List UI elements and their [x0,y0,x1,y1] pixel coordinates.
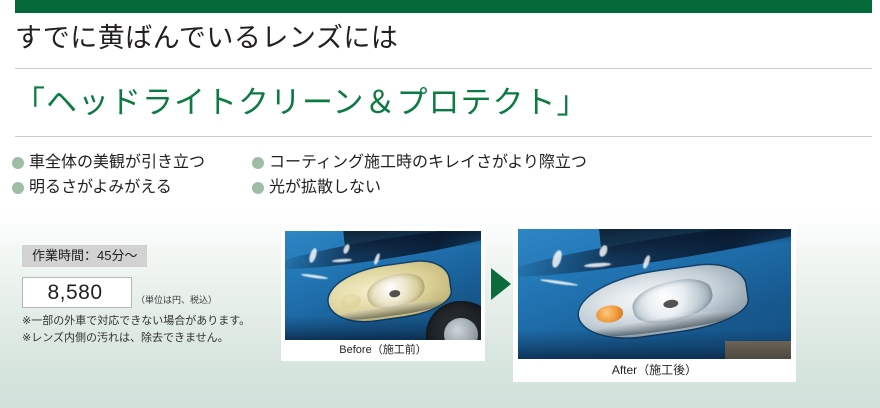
note-line: ※レンズ内側の汚れは、除去できません。 [22,330,250,347]
bullet-dot-icon [12,182,24,194]
promo-page: すでに黄ばんでいるレンズには 「ヘッドライトクリーン＆プロテクト」 車全体の美観… [0,0,880,408]
note-line: ※一部の外車で対応できない場合があります。 [22,313,250,330]
feature-item-2: コーティング施工時のキレイさがより際立つ [252,152,682,174]
feature-label: 車全体の美観が引き立つ [29,152,205,174]
feature-item-4: 光が拡散しない [252,177,682,199]
wheel-hub [444,318,478,340]
price-box: 8,580 [22,277,132,308]
turn-signal-lamp [340,293,361,309]
page-lead-text: すでに黄ばんでいるレンズには [15,17,398,59]
bullet-dot-icon [252,182,264,194]
ground-strip [725,341,791,359]
feature-item-1: 車全体の美観が引き立つ [12,152,252,174]
feature-label: 光が拡散しない [269,177,381,199]
feature-row: 明るさがよみがえる 光が拡散しない [12,177,692,202]
top-green-bar [15,0,872,13]
right-triangle-arrow-icon [491,268,511,300]
bullet-dot-icon [252,157,264,169]
after-photo [518,229,791,359]
after-caption: After（施工後） [518,359,791,382]
before-photo [285,231,481,340]
before-photo-frame: Before（施工前） [281,227,485,361]
feature-label: コーティング施工時のキレイさがより際立つ [269,152,587,174]
disclaimer-notes: ※一部の外車で対応できない場合があります。 ※レンズ内側の汚れは、除去できません… [22,313,250,347]
turn-signal-lamp [595,304,624,324]
feature-item-3: 明るさがよみがえる [12,177,252,199]
price-unit-note: （単位は円、税込） [136,293,217,308]
after-photo-frame: After（施工後） [513,224,796,382]
before-caption: Before（施工前） [285,340,481,361]
feature-list: 車全体の美観が引き立つ コーティング施工時のキレイさがより際立つ 明るさがよみが… [12,152,692,202]
divider-top [15,68,872,69]
feature-row: 車全体の美観が引き立つ コーティング施工時のキレイさがより際立つ [12,152,692,177]
feature-label: 明るさがよみがえる [29,177,172,199]
divider-bottom [15,136,872,137]
work-time-badge: 作業時間：45分〜 [22,245,147,267]
page-title: 「ヘッドライトクリーン＆プロテクト」 [14,78,588,128]
bullet-dot-icon [12,157,24,169]
price-value: 8,580 [47,281,106,305]
price-block: 8,580 （単位は円、税込） [22,277,217,308]
